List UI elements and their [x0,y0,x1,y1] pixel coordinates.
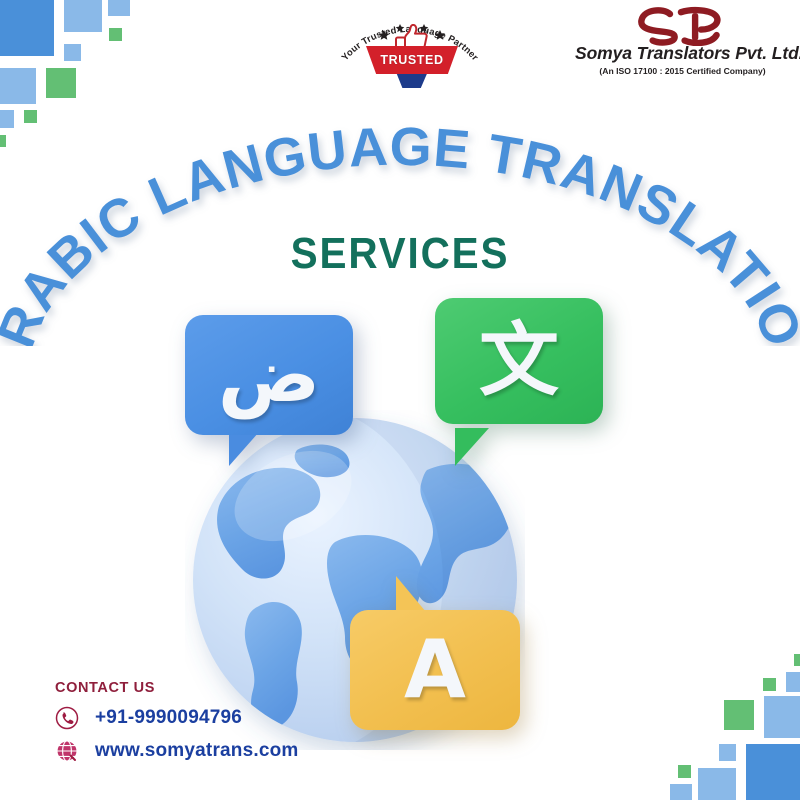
chinese-glyph: 文 [479,321,559,401]
decor-square [109,28,122,41]
latin-bubble-tail [396,576,426,612]
poster-canvas: Your Trusted Language Partner TRUSTED [0,0,800,800]
decor-square [746,744,800,800]
decor-square [698,768,736,800]
decor-square [764,696,800,738]
latin-glyph: A [404,630,466,710]
arabic-glyph: ض [218,337,320,413]
decor-square [670,784,692,800]
trusted-banner-label: TRUSTED [380,53,443,67]
decor-square [678,765,691,778]
arabic-bubble-body: ض [185,315,353,435]
chinese-bubble: 文 [435,298,603,424]
trusted-banner: TRUSTED [366,46,458,74]
decor-square [794,654,800,666]
contact-phone: +91-9990094796 [95,707,242,729]
iso-certification: (An ISO 17100 : 2015 Certified Company) [575,66,790,76]
chinese-bubble-tail [455,428,489,466]
contact-block: CONTACT US +91-9990094796 www.somy [55,680,385,772]
decor-square [724,700,754,730]
decor-square [763,678,776,691]
phone-icon [55,706,79,730]
contact-website: www.somyatrans.com [95,740,299,762]
contact-website-row[interactable]: www.somyatrans.com [55,739,385,763]
chinese-bubble-body: 文 [435,298,603,424]
decor-square [64,44,81,61]
company-logo: Somya Translators Pvt. Ltd. (An ISO 1710… [575,4,790,86]
subheadline: SERVICES [32,229,768,279]
decor-square [46,68,76,98]
trusted-badge: Your Trusted Language Partner TRUSTED [320,2,500,94]
globe-icon [55,739,79,763]
decor-square [0,0,54,56]
contact-heading: CONTACT US [55,680,385,696]
arabic-bubble-tail [229,432,259,466]
decor-square [719,744,736,761]
si-monogram-icon [628,4,738,46]
decor-square [786,672,800,692]
decor-square [108,0,130,16]
contact-phone-row[interactable]: +91-9990094796 [55,706,385,730]
company-name: Somya Translators Pvt. Ltd. [575,43,790,64]
decor-square [64,0,102,32]
arabic-bubble: ض [185,315,353,435]
hero-illustration: ض 文 A [140,290,660,710]
